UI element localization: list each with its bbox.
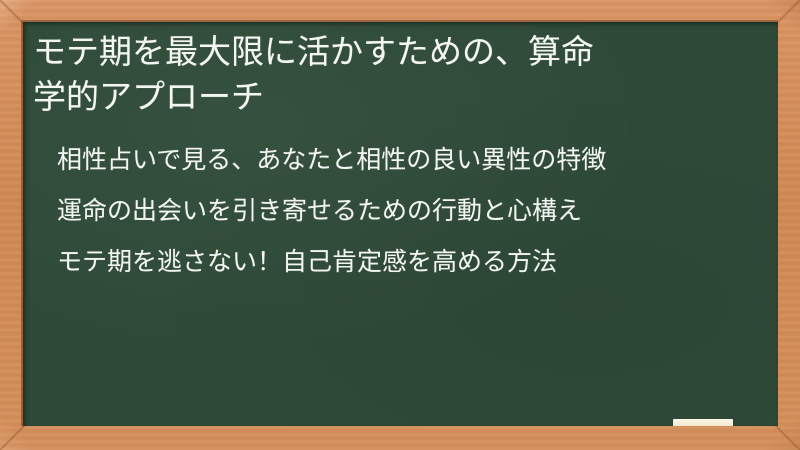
blackboard-wooden-frame: モテ期を最大限に活かすための、算命 学的アプローチ 相性占いで見る、あなたと相性…	[0, 0, 800, 450]
board-content: モテ期を最大限に活かすための、算命 学的アプローチ 相性占いで見る、あなたと相性…	[33, 29, 770, 275]
topic-list-item-2: 運命の出会いを引き寄せるための行動と心構え	[33, 198, 770, 224]
topic-list-item-1: 相性占いで見る、あなたと相性の良い異性の特徴	[33, 147, 770, 173]
topic-list: 相性占いで見る、あなたと相性の良い異性の特徴 運命の出会いを引き寄せるための行動…	[33, 147, 770, 275]
board-title: モテ期を最大限に活かすための、算命 学的アプローチ	[33, 29, 770, 119]
topic-list-item-3: モテ期を逃さない！自己肯定感を高める方法	[33, 249, 770, 275]
chalk-stick-icon	[673, 419, 733, 426]
chalkboard-surface: モテ期を最大限に活かすための、算命 学的アプローチ 相性占いで見る、あなたと相性…	[23, 22, 778, 426]
